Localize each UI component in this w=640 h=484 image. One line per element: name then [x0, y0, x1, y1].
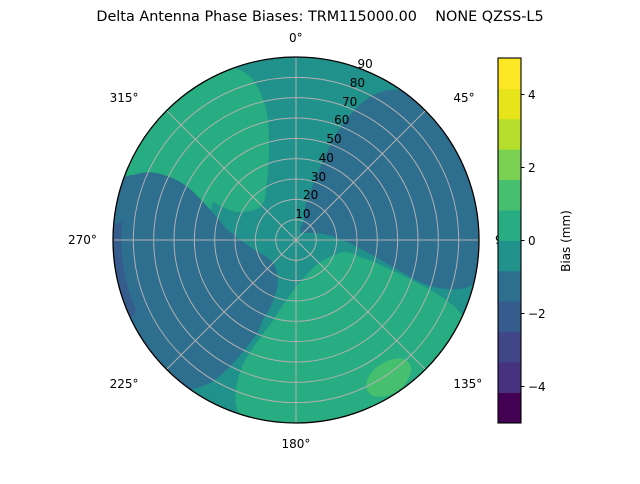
colorbar-band-5: [498, 241, 521, 272]
colorbar-tick-label-4: 4: [528, 88, 536, 102]
figure-canvas: Delta Antenna Phase Biases: TRM115000.00…: [0, 0, 640, 480]
colorbar: 420−2−4 Bias (mm): [0, 0, 640, 480]
colorbar-band-6: [498, 210, 521, 241]
colorbar-band-1: [498, 362, 521, 393]
colorbar-axis-label: Bias (mm): [559, 210, 573, 272]
colorbar-tick-label-0: 0: [528, 234, 536, 248]
colorbar-band-9: [498, 119, 521, 150]
colorbar-band-8: [498, 149, 521, 180]
colorbar-band-2: [498, 332, 521, 363]
colorbar-band-0: [498, 393, 521, 424]
colorbar-band-7: [498, 180, 521, 211]
colorbar-tick-label-2: 2: [528, 161, 536, 175]
colorbar-tick-label--2: −2: [528, 307, 546, 321]
colorbar-band-10: [498, 88, 521, 119]
colorbar-band-4: [498, 271, 521, 302]
colorbar-svg: [0, 0, 640, 480]
colorbar-tick-label--4: −4: [528, 380, 546, 394]
colorbar-bands: [498, 58, 521, 423]
colorbar-band-11: [498, 58, 521, 89]
colorbar-band-3: [498, 301, 521, 332]
